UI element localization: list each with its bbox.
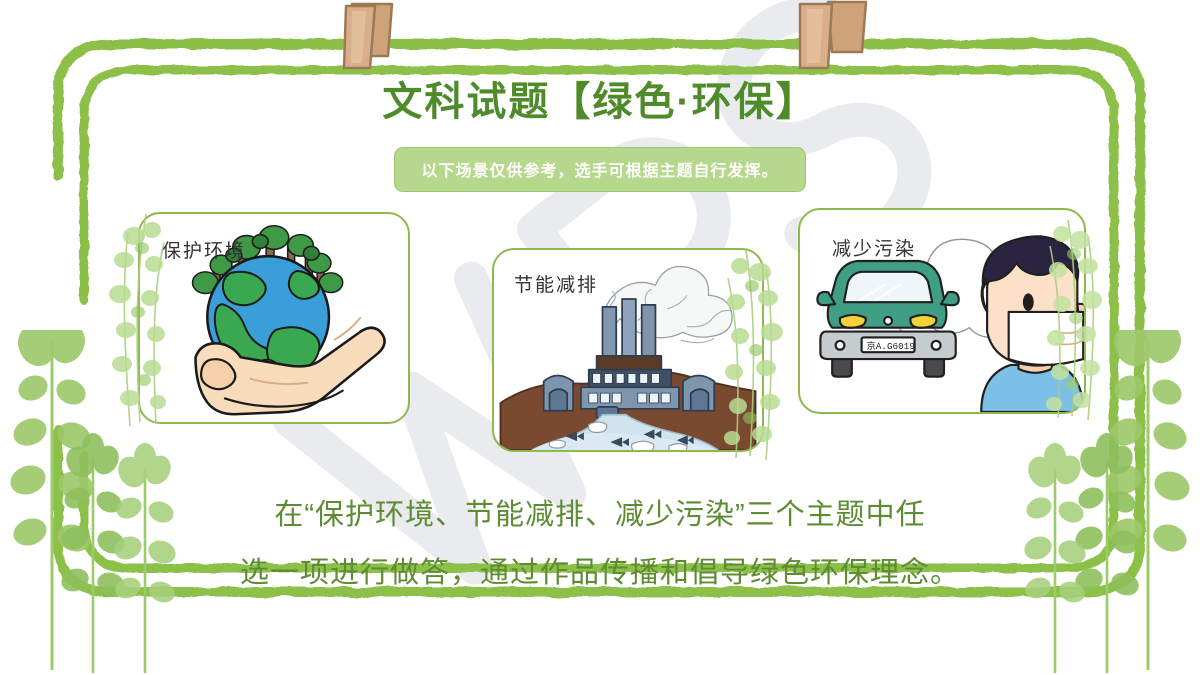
card-reduce-pollution[interactable]: 3 (798, 208, 1086, 414)
subtitle-banner: 以下场景仅供参考，选手可根据主题自行发挥。 (394, 147, 805, 192)
card-label-energy-emission: 节能减排 (514, 270, 598, 297)
bottom-instruction-text: 在“保护环境、节能减排、减少污染”三个主题中任 选一项进行做答，通过作品传播和倡… (0, 486, 1200, 602)
page-title: 文科试题【绿色·环保】 (0, 78, 1200, 126)
license-plate-text: 京A.G6019 (866, 340, 914, 352)
wooden-clips (0, 0, 1200, 80)
clip-left (344, 4, 392, 68)
bottom-instruction-line-2: 选一项进行做答，通过作品传播和倡导绿色环保理念。 (0, 544, 1200, 602)
card-energy-emission[interactable]: 节能减排 (492, 248, 764, 452)
card-label-reduce-pollution: 减少污染 (832, 234, 916, 261)
card-label-protect-environment: 保护环境 (162, 236, 246, 263)
card-protect-environment[interactable]: 保护环境 (138, 212, 410, 424)
clip-right (800, 2, 866, 68)
bottom-instruction-line-1: 在“保护环境、节能减排、减少污染”三个主题中任 (0, 486, 1200, 544)
header: 文科试题【绿色·环保】 以下场景仅供参考，选手可根据主题自行发挥。 (0, 78, 1200, 192)
